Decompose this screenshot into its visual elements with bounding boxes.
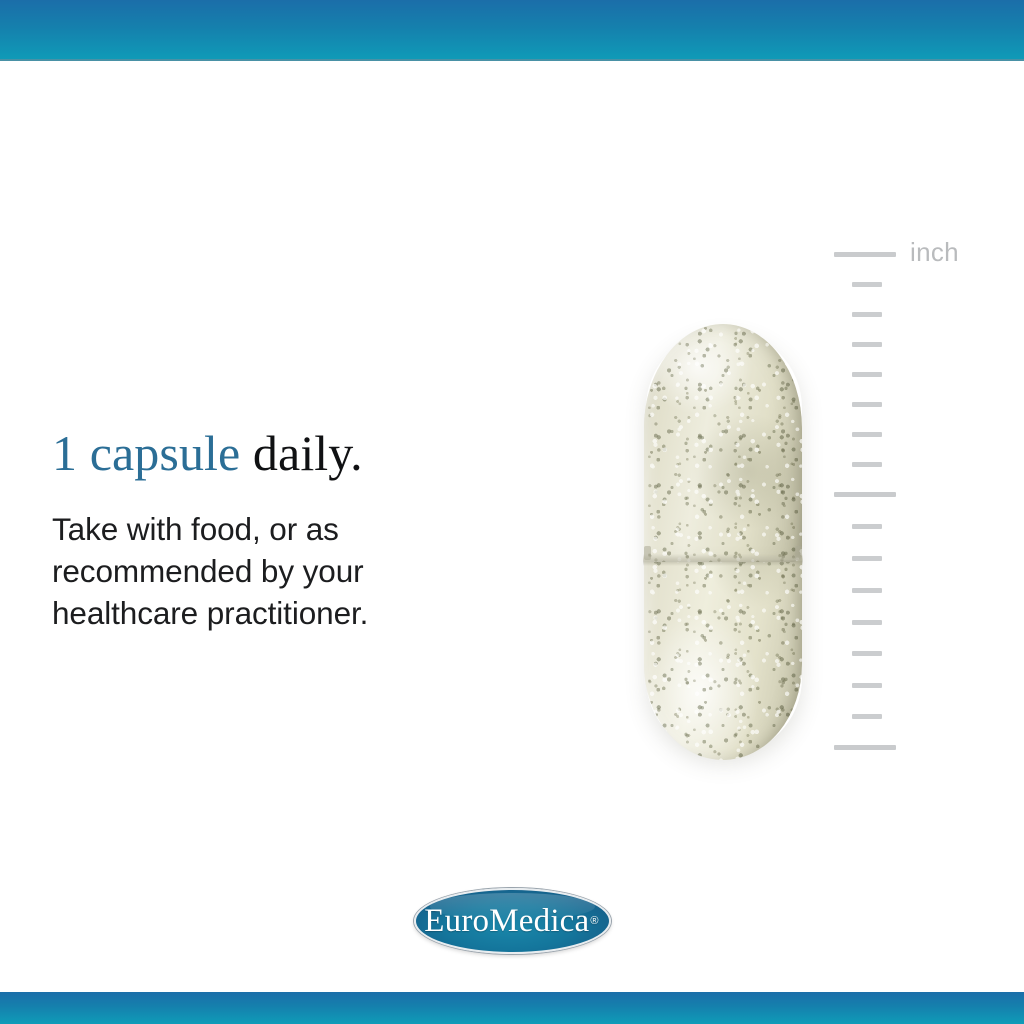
capsule-shell-edge-right — [795, 546, 802, 560]
brand-logo-euromedica: EuroMedica® — [414, 888, 611, 954]
ruler-minor-tick-5 — [852, 402, 882, 407]
registered-trademark-icon: ® — [590, 915, 598, 927]
ruler-minor-tick-13 — [852, 683, 882, 688]
capsule-cap-half — [644, 324, 802, 562]
dosage-instructions-text: Take with food, or as recommended by you… — [52, 508, 430, 634]
capsule-cap-speckles-light — [644, 324, 802, 562]
ruler-major-tick-2 — [834, 745, 896, 750]
ruler-minor-tick-11 — [852, 620, 882, 625]
bottom-blue-bar — [0, 992, 1024, 1024]
headline-rest-text: daily. — [240, 425, 362, 481]
capsule-image — [644, 324, 802, 760]
ruler-unit-label: inch — [910, 237, 959, 268]
ruler-minor-tick-1 — [852, 282, 882, 287]
ruler-minor-tick-4 — [852, 372, 882, 377]
headline-accent-text: 1 capsule — [52, 425, 240, 481]
page-title: 1 capsule daily. — [52, 424, 482, 482]
ruler-minor-tick-6 — [852, 432, 882, 437]
ruler-major-tick-0 — [834, 252, 896, 257]
ruler-minor-tick-9 — [852, 556, 882, 561]
ruler-minor-tick-7 — [852, 462, 882, 467]
ruler-minor-tick-3 — [852, 342, 882, 347]
ruler-minor-tick-8 — [852, 524, 882, 529]
ruler-minor-tick-10 — [852, 588, 882, 593]
top-blue-bar — [0, 0, 1024, 61]
instruction-copy-block: 1 capsule daily. Take with food, or as r… — [52, 424, 482, 634]
capsule-shell-edge-left — [644, 546, 651, 560]
ruler-minor-tick-12 — [852, 651, 882, 656]
ruler-major-tick-1 — [834, 492, 896, 497]
ruler-minor-tick-14 — [852, 714, 882, 719]
product-instruction-graphic: 1 capsule daily. Take with food, or as r… — [0, 0, 1024, 1024]
top-bar-edge-line — [0, 59, 1024, 61]
logo-brand-text: EuroMedica — [424, 903, 589, 940]
logo-wordmark: EuroMedica® — [414, 888, 611, 954]
ruler-minor-tick-2 — [852, 312, 882, 317]
